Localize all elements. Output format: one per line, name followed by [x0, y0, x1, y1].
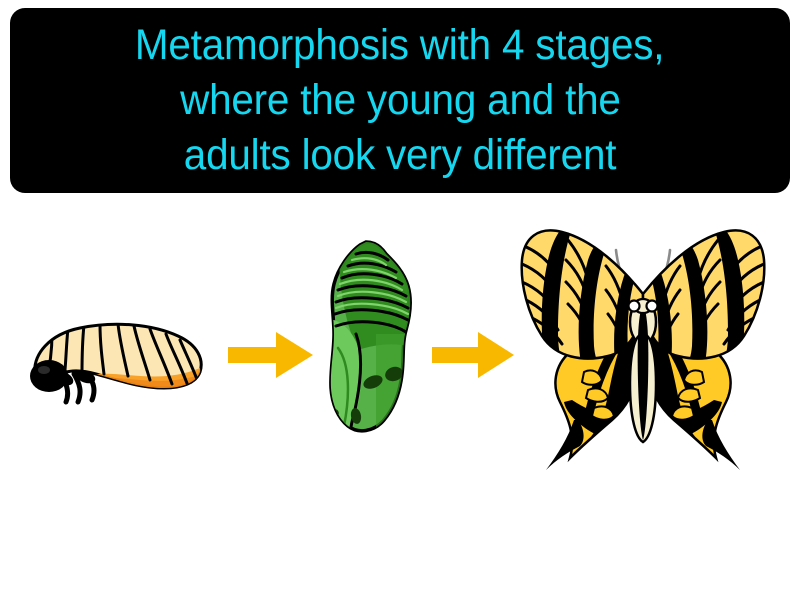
caterpillar-icon — [22, 310, 207, 405]
butterfly-adult-figure — [512, 222, 774, 477]
right-arrow-icon — [432, 330, 514, 380]
definition-text-line-1: Metamorphosis with 4 stages, — [135, 18, 664, 73]
definition-banner: Metamorphosis with 4 stages, where the y… — [10, 8, 790, 193]
swallowtail-butterfly-icon — [512, 222, 774, 477]
definition-text-line-2: where the young and the — [180, 73, 621, 128]
butterfly-tail-right — [702, 420, 740, 470]
arrow-pupa-to-adult — [432, 330, 514, 380]
caterpillar-head-highlight — [38, 366, 50, 374]
caterpillar-head — [30, 360, 68, 392]
definition-text-line-3: adults look very different — [184, 128, 617, 183]
arrow-larva-to-pupa — [228, 330, 313, 380]
metamorphosis-lifecycle-illustration — [0, 200, 800, 500]
right-arrow-icon — [228, 330, 313, 380]
chrysalis-icon — [316, 238, 426, 438]
butterfly-eye-left — [629, 301, 640, 312]
butterfly-eye-right — [647, 301, 658, 312]
butterfly-tail-left — [546, 420, 584, 470]
caterpillar-larva-figure — [22, 310, 207, 405]
chrysalis-pupa-figure — [316, 238, 426, 438]
